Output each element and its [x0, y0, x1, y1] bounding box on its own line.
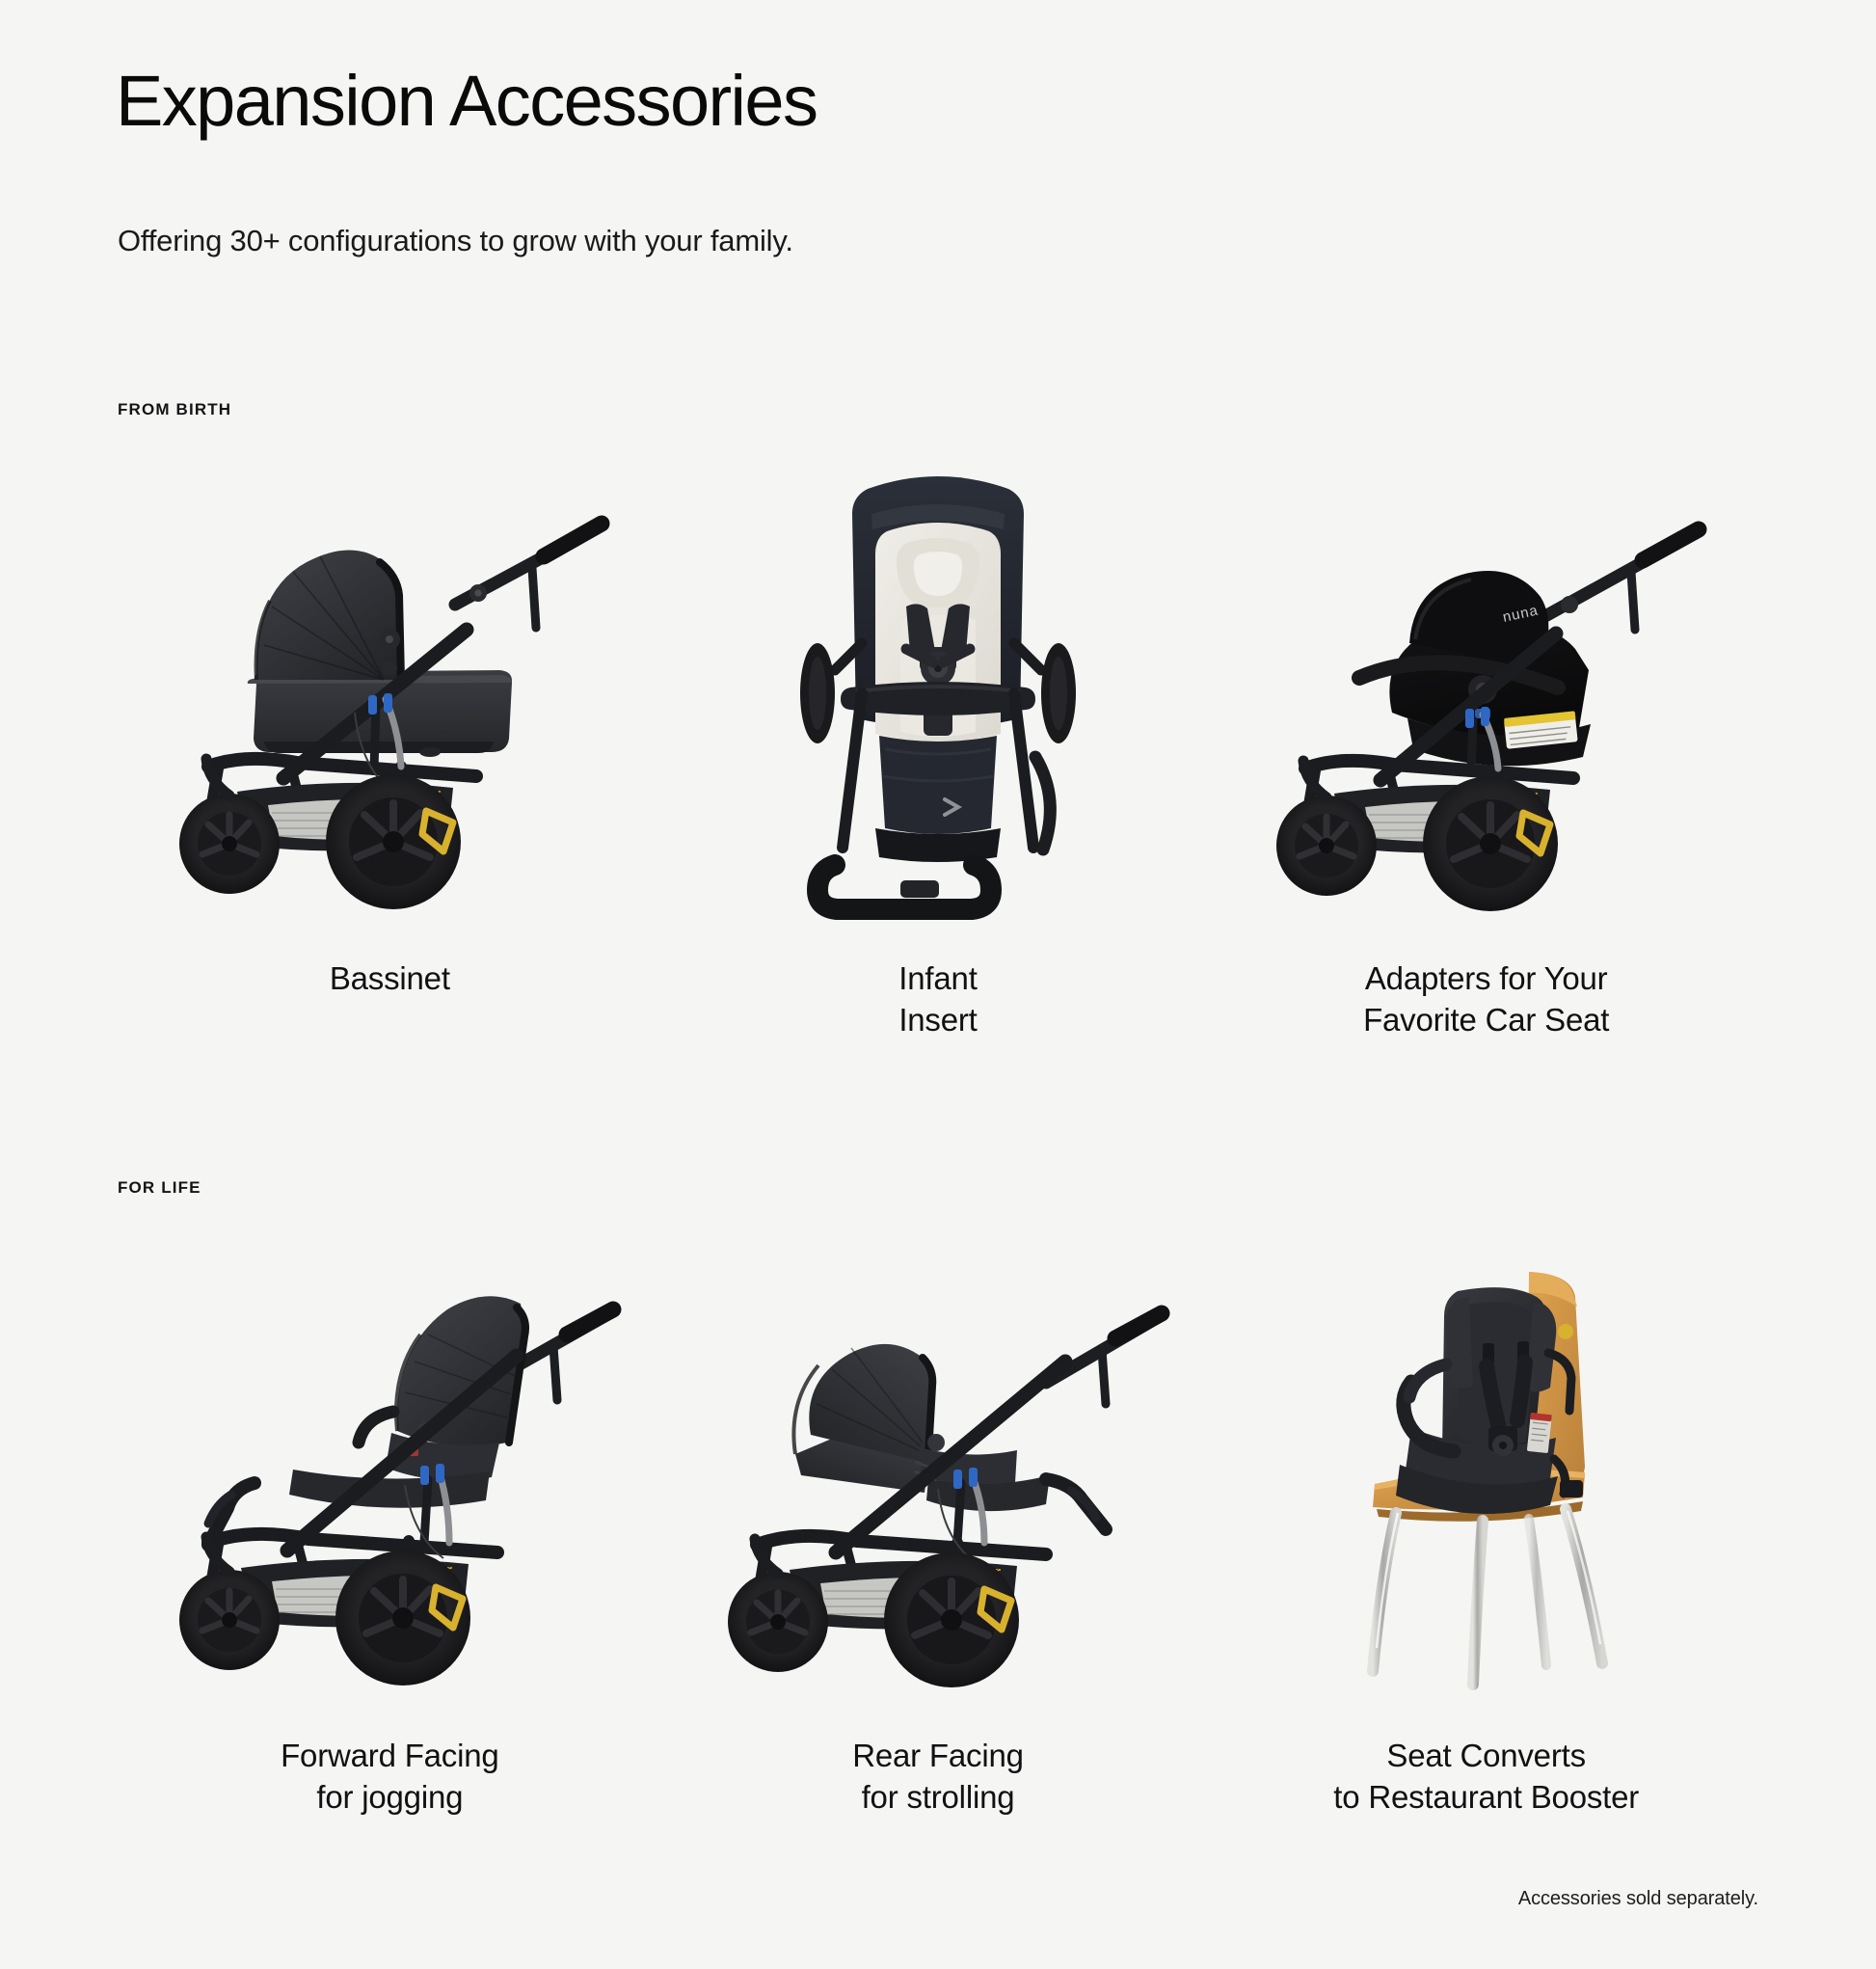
bassinet-stroller-illustration: veer	[148, 460, 630, 923]
forward-facing-stroller-image: veer	[116, 1223, 664, 1714]
product-card-forward-facing[interactable]: veer	[116, 1223, 664, 1819]
product-caption: Infant Insert	[898, 958, 977, 1041]
product-card-restaurant-booster[interactable]: Seat Converts to Restaurant Booster	[1212, 1223, 1760, 1819]
handlebar	[455, 524, 602, 628]
rear-wheel	[1423, 776, 1558, 911]
bassinet-canopy	[256, 550, 401, 680]
rear-wheel	[884, 1552, 1019, 1687]
bassinet-stroller-image: veer	[116, 445, 664, 937]
foot-area	[875, 736, 1001, 862]
product-caption: Forward Facing for jogging	[281, 1736, 498, 1819]
rear-facing-stroller-illustration: veer	[687, 1242, 1189, 1695]
product-card-bassinet[interactable]: veer	[116, 445, 664, 1041]
product-caption: Rear Facing for strolling	[852, 1736, 1024, 1819]
rear-facing-stroller-image: veer	[664, 1223, 1213, 1714]
booster-seat-on-chair-image	[1212, 1223, 1760, 1714]
front-wheel	[1276, 761, 1377, 896]
front-wheel	[179, 1537, 280, 1670]
handlebar	[1535, 529, 1699, 630]
product-caption: Seat Converts to Restaurant Booster	[1333, 1736, 1639, 1819]
car-seat-adapter-image: nuna	[1212, 445, 1760, 937]
car-seat-adapter-illustration: nuna	[1246, 460, 1728, 923]
bumper-bar	[841, 682, 1035, 715]
product-card-rear-facing[interactable]: veer	[664, 1223, 1213, 1819]
product-grid-from-birth: veer	[116, 445, 1760, 1041]
booster-on-chair-illustration	[1323, 1237, 1650, 1700]
product-card-car-seat-adapter[interactable]: nuna	[1212, 445, 1760, 1041]
front-wheel	[179, 759, 280, 894]
product-caption: Adapters for Your Favorite Car Seat	[1363, 958, 1609, 1041]
rear-wheel	[326, 774, 461, 909]
infant-insert-image	[664, 445, 1213, 937]
rear-wheel	[335, 1551, 470, 1686]
footnote-accessories-sold-separately: Accessories sold separately.	[1518, 1888, 1758, 1910]
forward-facing-stroller-illustration: veer	[139, 1242, 640, 1695]
front-wheel	[728, 1539, 828, 1672]
expansion-accessories-page: Expansion Accessories Offering 30+ confi…	[0, 0, 1876, 1969]
strap-buckle-accent	[1558, 1324, 1573, 1339]
section-label-for-life: FOR LIFE	[118, 1178, 201, 1198]
right-wheel	[1041, 643, 1076, 743]
page-title: Expansion Accessories	[116, 66, 817, 137]
handlebar	[817, 865, 991, 909]
bumper-bar	[359, 1412, 393, 1443]
page-subtitle: Offering 30+ configurations to grow with…	[118, 220, 793, 262]
seat-canopy	[793, 1344, 934, 1493]
infant-insert-illustration	[779, 450, 1097, 932]
left-wheel	[800, 643, 835, 743]
product-caption: Bassinet	[330, 958, 450, 1000]
chair-legs	[1373, 1509, 1602, 1685]
section-label-from-birth: FROM BIRTH	[118, 400, 231, 419]
product-grid-for-life: veer	[116, 1223, 1760, 1819]
product-card-infant-insert[interactable]: Infant Insert	[664, 445, 1213, 1041]
